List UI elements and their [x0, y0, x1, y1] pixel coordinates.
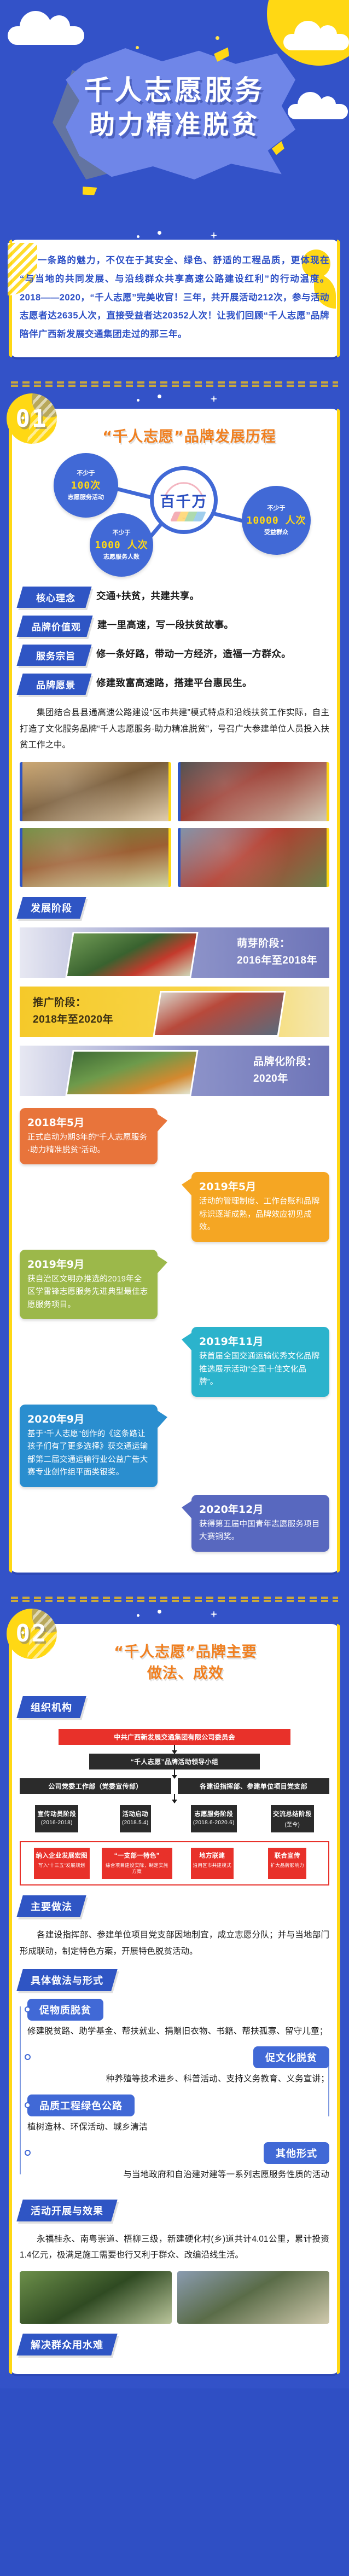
- stage-banner-seed: 萌芽阶段： 2016年至2018年: [20, 927, 329, 978]
- forms-tag: 具体做法与形式: [16, 1969, 117, 1991]
- timeline-item: 2018年5月 正式启动为期3年的“千人志愿服务·助力精准脱贫”活动。: [20, 1108, 329, 1165]
- photo-thumbnail: [20, 2271, 172, 2324]
- org-node-top: 中共广西新发展交通集团有限公司委员会: [59, 1729, 291, 1745]
- hero-title: 千人志愿服务 助力精准脱贫: [0, 72, 349, 142]
- timeline-date: 2020年9月: [27, 1411, 150, 1426]
- timeline-item: 2020年9月 基于“千人志愿”创作的《这条路让孩子们有了更多选择》获交通运输部…: [20, 1405, 329, 1487]
- effect-tag: 活动开展与效果: [16, 2200, 117, 2221]
- form-body: 与当地政府和自治建对建等一系列志愿服务性质的活动: [27, 2167, 329, 2182]
- timeline-body: 基于“千人志愿”创作的《这条路让孩子们有了更多选择》获交通运输部第二届交通运输行…: [27, 1428, 150, 1480]
- org-phase-node: 活动启动 (2018.5.4): [120, 1805, 151, 1832]
- rail-node-icon: [25, 2054, 31, 2060]
- form-pill: 其他形式: [264, 2142, 329, 2164]
- timeline-date: 2019年11月: [199, 1333, 322, 1348]
- org-measure-node: 纳入企业发展宏图 写入“十三五”发展规划: [34, 1848, 90, 1879]
- card-accent-left: [9, 1624, 12, 2374]
- card-accent-right: [337, 1624, 340, 2374]
- timeline-item: 2019年5月 活动的管理制度、工作台账和品牌标识逐渐成熟，品牌效应初见成效。: [20, 1172, 329, 1241]
- stage-banner-promotion: 推广阶段： 2018年至2020年: [20, 987, 329, 1037]
- org-connector: [174, 1769, 175, 1778]
- value-row-brand-values: 品牌价值观 建一里高速，写一段扶贫故事。: [20, 616, 329, 637]
- photo-grid: [20, 762, 329, 887]
- form-item-culture: 促文化脱贫 种养殖等技术进乡、科普活动、支持义务教育、义务宣讲；: [27, 2046, 329, 2086]
- water-issue-tag: 解决群众用水难: [16, 2334, 117, 2355]
- timeline-body: 获自治区文明办推选的2019年全区学雷锋志愿服务先进典型最佳志愿服务项目。: [27, 1273, 150, 1312]
- timeline-box: 2020年12月 获得第五届中国青年志愿服务项目大赛铜奖。: [191, 1495, 329, 1552]
- section-01-badge: 01: [7, 393, 57, 444]
- stage-banner-branding: 品牌化阶段： 2020年: [20, 1046, 329, 1096]
- section-01-number: 01: [16, 405, 48, 433]
- hub-center-label: 百千万: [160, 490, 208, 511]
- timeline-item: 2020年12月 获得第五届中国青年志愿服务项目大赛铜奖。: [20, 1495, 329, 1552]
- timeline-date: 2019年9月: [27, 1256, 150, 1271]
- dot-icon: [216, 36, 219, 40]
- org-node-project-branch: 各建设指挥部、参建单位项目党支部: [178, 1778, 329, 1794]
- value-tag: 核心理念: [16, 587, 91, 608]
- card-accent-right: [337, 409, 340, 1573]
- org-chart: 中共广西新发展交通集团有限公司委员会 “千人志愿”品牌活动领导小组 公司党委工作…: [20, 1729, 329, 1885]
- cloud-icon: [8, 26, 84, 45]
- milestone-timeline: 2018年5月 正式启动为期3年的“千人志愿服务·助力精准脱贫”活动。 2019…: [20, 1108, 329, 1552]
- value-tag: 品牌价值观: [16, 616, 92, 637]
- section-02-badge: 02: [7, 1609, 57, 1659]
- section-01-title: “千人志愿”品牌发展历程: [20, 421, 329, 450]
- hub-center: 百千万: [150, 466, 218, 534]
- intro-card: 一条路的魅力，不仅在于其安全、绿色、舒适的工程品质，更体现在“与当地的共同发展、…: [9, 240, 340, 357]
- stage-text: 萌芽阶段： 2016年至2018年: [237, 936, 317, 969]
- value-tag: 品牌愿景: [16, 674, 91, 695]
- value-tag: 服务宗旨: [16, 645, 91, 666]
- section-01-paragraph: 集团结合县县通高速公路建设“区市共建”模式特点和沿线扶贫工作实际，自主打造了文化…: [20, 705, 329, 753]
- org-row-departments: 公司党委工作部（党委宣传部） 各建设指挥部、参建单位项目党支部: [20, 1778, 329, 1794]
- confetti-icon: [81, 184, 97, 197]
- org-measures-box: 纳入企业发展宏图 写入“十三五”发展规划 “一支部一特色” 综合项目建设实际，制…: [20, 1841, 329, 1885]
- hub-bubble-beneficiaries: 不少于 10000 人次 受益群众: [242, 486, 311, 555]
- form-pill: 促物质脱贫: [27, 1999, 103, 2021]
- timeline-date: 2018年5月: [27, 1115, 150, 1129]
- section-02: 02 “千人志愿”品牌主要 做法、成效 组织机构 中共广西新发展交通集团有限公司…: [0, 1624, 349, 2374]
- org-connector: [174, 1745, 175, 1754]
- dashed-divider: [11, 381, 338, 393]
- infographic-page: 千人志愿服务 助力精准脱贫 一条路的魅力，不仅在于其安全、绿色、舒适的工程品质，…: [0, 0, 349, 2388]
- org-phase-node: 交流总结阶段 (至今): [271, 1805, 314, 1832]
- section-02-card: “千人志愿”品牌主要 做法、成效 组织机构 中共广西新发展交通集团有限公司委员会…: [9, 1624, 340, 2374]
- road-ribbon-icon: [170, 512, 206, 521]
- photo-thumbnail: [178, 762, 329, 821]
- forms-rail: [20, 2006, 21, 2174]
- photo-thumbnail: [177, 2271, 329, 2324]
- decor-dots: [0, 230, 349, 240]
- main-methods-paragraph: 各建设指挥部、参建单位项目党支部因地制宜，成立志愿分队；并与当地部门形成联动，制…: [20, 1927, 329, 1959]
- form-pill: 品质工程绿色公路: [27, 2095, 135, 2116]
- cloud-icon: [283, 34, 349, 50]
- form-body: 修建脱贫路、助学基金、帮扶就业、捐赠旧衣物、书籍、帮扶孤寡、留守儿童；: [27, 2024, 329, 2039]
- hub-bubble-volunteers: 不少于 1000 人次 志愿服务人数: [90, 513, 153, 577]
- form-item-other: 其他形式 与当地政府和自治建对建等一系列志愿服务性质的活动: [27, 2142, 329, 2182]
- section-01-card: “千人志愿”品牌发展历程 不少于 100次 志愿服务活动 百千万 不少于: [9, 409, 340, 1573]
- org-phase-node: 宣传动员阶段 (2016-2018): [35, 1805, 78, 1832]
- timeline-item: 2019年11月 获首届全国交通运输优秀文化品牌推选展示活动“全国十佳文化品牌”…: [20, 1327, 329, 1396]
- org-node-leadgroup: “千人志愿”品牌活动领导小组: [89, 1754, 259, 1769]
- value-text: 修一条好路，带动一方经济，造福一方群众。: [96, 645, 329, 661]
- card-accent-right: [337, 240, 340, 357]
- section-02-title-line1: “千人志愿”品牌主要: [114, 1644, 257, 1661]
- stage-photo: [153, 991, 286, 1037]
- value-text: 交通+扶贫，共建共享。: [96, 587, 329, 603]
- org-connector: [174, 1794, 175, 1803]
- value-row-service-purpose: 服务宗旨 修一条好路，带动一方经济，造福一方群众。: [20, 645, 329, 666]
- photo-thumbnail: [20, 828, 171, 887]
- value-text: 建一里高速，写一段扶贫故事。: [97, 616, 329, 632]
- org-measure-node: 地方联建 沿用区市共建模式: [191, 1848, 234, 1879]
- bottom-photo-grid: [20, 2271, 329, 2324]
- timeline-item: 2019年9月 获自治区文明办推选的2019年全区学雷锋志愿服务先进典型最佳志愿…: [20, 1250, 329, 1319]
- org-measure-node: “一支部一特色” 综合项目建设实际，制定实施方案: [102, 1848, 173, 1879]
- org-phase-row: 宣传动员阶段 (2016-2018) 活动启动 (2018.5.4) 志愿服务阶…: [20, 1805, 329, 1832]
- dashed-divider: [11, 1597, 338, 1609]
- photo-thumbnail: [20, 762, 171, 821]
- value-row-core-concept: 核心理念 交通+扶贫，共建共享。: [20, 587, 329, 608]
- timeline-box: 2019年5月 活动的管理制度、工作台账和品牌标识逐渐成熟，品牌效应初见成效。: [191, 1172, 329, 1241]
- org-phase-node: 志愿服务阶段 (2018.6-2020.6): [191, 1805, 237, 1832]
- timeline-date: 2020年12月: [199, 1501, 322, 1516]
- hub-bubble-activities: 不少于 100次 志愿服务活动: [54, 453, 118, 518]
- stage-photo: [65, 932, 198, 978]
- stage-text: 品牌化阶段： 2020年: [253, 1054, 317, 1087]
- timeline-body: 获得第五届中国青年志愿服务项目大赛铜奖。: [199, 1518, 322, 1544]
- value-text: 修建致富高速路，搭建平台惠民生。: [96, 674, 329, 690]
- org-structure-tag: 组织机构: [16, 1696, 86, 1718]
- hero-title-line2: 助力精准脱贫: [0, 108, 349, 142]
- hero-banner: 千人志愿服务 助力精准脱贫: [0, 0, 349, 230]
- rail-node-icon: [25, 2102, 31, 2108]
- org-measure-node: 联合宣传 扩大品牌影响力: [268, 1848, 306, 1879]
- brand-hub-diagram: 不少于 100次 志愿服务活动 百千万 不少于 10000 人次 受益群众 不少…: [20, 452, 329, 579]
- stage-photo: [65, 1050, 198, 1096]
- rail-node-icon: [25, 2150, 31, 2156]
- forms-list: 促物质脱贫 修建脱贫路、助学基金、帮扶就业、捐赠旧衣物、书籍、帮扶孤寡、留守儿童…: [20, 1999, 329, 2182]
- form-body: 种养殖等技术进乡、科普活动、支持义务教育、义务宣讲；: [27, 2072, 329, 2086]
- value-row-brand-vision: 品牌愿景 修建致富高速路，搭建平台惠民生。: [20, 674, 329, 695]
- timeline-date: 2019年5月: [199, 1179, 322, 1193]
- section-02-title: “千人志愿”品牌主要 做法、成效: [20, 1636, 329, 1686]
- stage-text: 推广阶段： 2018年至2020年: [33, 995, 113, 1028]
- card-accent-left: [9, 409, 12, 1573]
- intro-paragraph: 一条路的魅力，不仅在于其安全、绿色、舒适的工程品质，更体现在“与当地的共同发展、…: [20, 252, 329, 344]
- timeline-box: 2018年5月 正式启动为期3年的“千人志愿服务·助力精准脱贫”活动。: [20, 1108, 158, 1165]
- form-item-green-road: 品质工程绿色公路 植树造林、环保活动、城乡清洁: [27, 2095, 329, 2134]
- timeline-body: 活动的管理制度、工作台账和品牌标识逐渐成熟，品牌效应初见成效。: [199, 1196, 322, 1234]
- development-stage-tag: 发展阶段: [16, 897, 86, 919]
- effect-paragraph: 永福桂永、南粤崇道、梧柳三级，新建硬化村(乡)道共计4.01公里，累计投资1.4…: [20, 2231, 329, 2264]
- section-02-number: 02: [16, 1620, 48, 1647]
- section-02-title-line2: 做法、成效: [147, 1665, 224, 1682]
- form-pill: 促文化脱贫: [253, 2046, 329, 2068]
- form-item-material: 促物质脱贫 修建脱贫路、助学基金、帮扶就业、捐赠旧衣物、书籍、帮扶孤寡、留守儿童…: [27, 1999, 329, 2039]
- section-01: 01 “千人志愿”品牌发展历程 不少于 100次 志愿服务活动 百千万: [0, 409, 349, 1573]
- main-methods-tag: 主要做法: [16, 1895, 86, 1917]
- timeline-box: 2019年9月 获自治区文明办推选的2019年全区学雷锋志愿服务先进典型最佳志愿…: [20, 1250, 158, 1319]
- dot-icon: [136, 46, 139, 49]
- photo-thumbnail: [178, 828, 329, 887]
- timeline-box: 2019年11月 获首届全国交通运输优秀文化品牌推选展示活动“全国十佳文化品牌”…: [191, 1327, 329, 1396]
- org-node-party-dept: 公司党委工作部（党委宣传部）: [20, 1778, 171, 1794]
- timeline-body: 正式启动为期3年的“千人志愿服务·助力精准脱贫”活动。: [27, 1132, 150, 1157]
- form-body: 植树造林、环保活动、城乡清洁: [27, 2120, 329, 2134]
- timeline-box: 2020年9月 基于“千人志愿”创作的《这条路让孩子们有了更多选择》获交通运输部…: [20, 1405, 158, 1487]
- timeline-body: 获首届全国交通运输优秀文化品牌推选展示活动“全国十佳文化品牌”。: [199, 1350, 322, 1389]
- hero-title-line1: 千人志愿服务: [0, 72, 349, 108]
